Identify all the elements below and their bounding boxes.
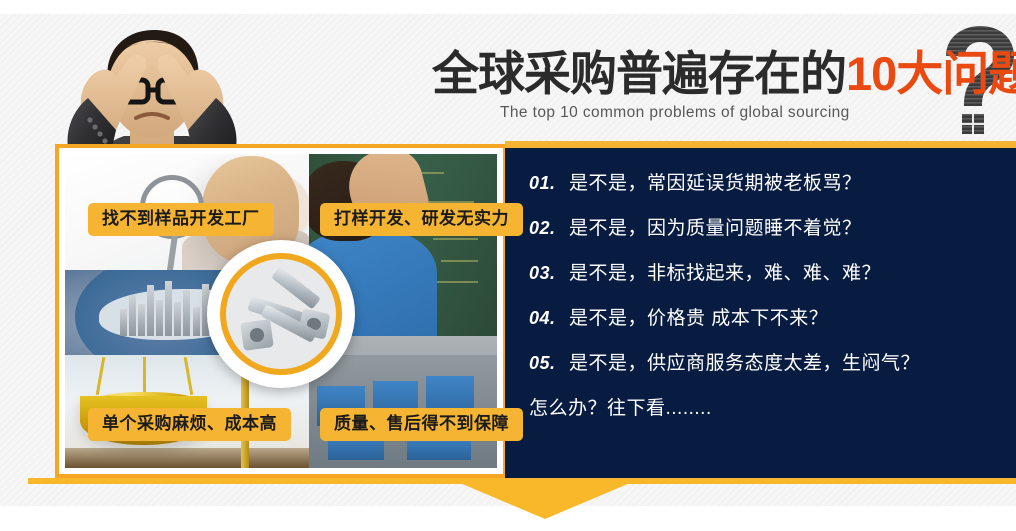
banner-title-block: 全球采购普遍存在的10大问题 The top 10 common problem…	[432, 44, 1016, 136]
title-highlight: 10大问题	[846, 47, 1016, 100]
bolts-badge	[207, 240, 355, 388]
list-item-number: 05.	[529, 353, 569, 374]
title-prefix: 全球采购普遍存在的	[432, 47, 846, 100]
list-item-number: 02.	[529, 218, 569, 239]
bolts-badge-ring	[220, 253, 342, 375]
problem-list: 01. 是不是，常因延误货期被老板骂？ 02. 是不是，因为质量问题睡不着觉？ …	[529, 168, 999, 420]
list-item-text: 是不是，因为质量问题睡不着觉？	[569, 213, 862, 240]
list-item-text: 是不是，非标找起来，难、难、难？	[569, 258, 881, 285]
problem-list-footer: 怎么办？往下看........	[529, 393, 999, 420]
list-item-text: 是不是，常因延误货期被老板骂？	[569, 168, 862, 195]
list-item-number: 03.	[529, 263, 569, 284]
caption-chip-3: 单个采购麻烦、成本高	[88, 408, 291, 441]
list-item: 01. 是不是，常因延误货期被老板骂？	[529, 168, 999, 195]
navy-panel-top-accent	[505, 141, 1016, 148]
page-subtitle: The top 10 common problems of global sou…	[500, 104, 850, 122]
list-item: 02. 是不是，因为质量问题睡不着觉？	[529, 213, 999, 240]
list-item: 05. 是不是，供应商服务态度太差，生闷气？	[529, 348, 999, 375]
caption-chip-4: 质量、售后得不到保障	[320, 408, 523, 441]
caption-chip-2: 打样开发、研发无实力	[320, 203, 523, 236]
problem-list-panel: 01. 是不是，常因延误货期被老板骂？ 02. 是不是，因为质量问题睡不着觉？ …	[505, 148, 1016, 478]
promo-banner: 全球采购普遍存在的10大问题 The top 10 common problem…	[0, 0, 1016, 531]
caption-chip-1: 找不到样品开发工厂	[88, 203, 274, 236]
list-item-number: 01.	[529, 173, 569, 194]
scroll-down-arrow-icon	[460, 483, 630, 519]
list-item: 04. 是不是，价格贵 成本下不来？	[529, 303, 999, 330]
list-item: 03. 是不是，非标找起来，难、难、难？	[529, 258, 999, 285]
list-item-number: 04.	[529, 308, 569, 329]
list-item-text: 是不是，供应商服务态度太差，生闷气？	[569, 348, 920, 375]
page-title: 全球采购普遍存在的10大问题	[432, 44, 1016, 104]
list-item-text: 是不是，价格贵 成本下不来？	[569, 303, 828, 330]
